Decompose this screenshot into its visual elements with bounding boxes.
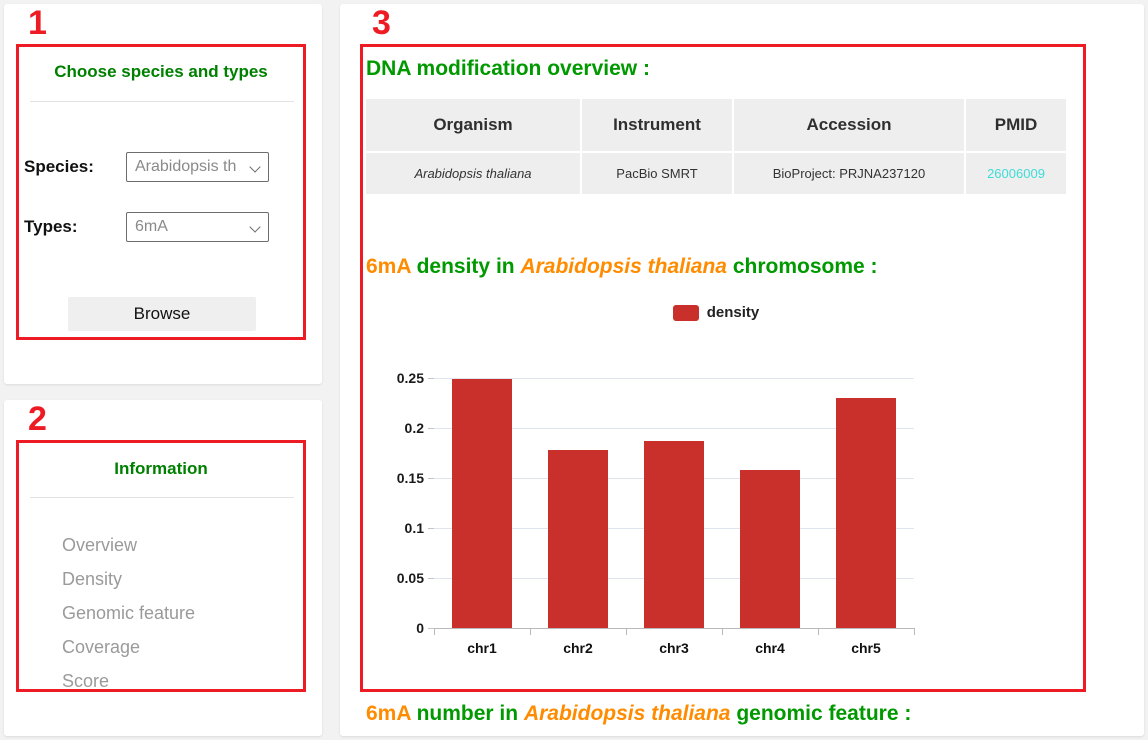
page-root: 1 Choose species and types Species: Arab… [0, 0, 1148, 740]
x-axis-tick-label: chr1 [467, 640, 497, 656]
cell-accession: BioProject: PRJNA237120 [734, 153, 966, 194]
species-panel-divider [30, 101, 294, 102]
chart-bar[interactable] [740, 470, 800, 628]
y-axis-tick-label: 0 [416, 620, 424, 636]
types-select[interactable]: 6mA [126, 212, 269, 242]
chart-legend: density [366, 304, 1066, 321]
x-axis-tick-label: chr4 [755, 640, 785, 656]
chart-plot-area [434, 358, 914, 628]
legend-swatch-density [673, 305, 699, 321]
cell-instrument: PacBio SMRT [582, 153, 734, 194]
x-axis-tick-mark [626, 628, 627, 635]
species-panel-heading: Choose species and types [18, 62, 304, 82]
x-axis-tick-mark [722, 628, 723, 635]
sidebar-item-density[interactable]: Density [62, 562, 302, 596]
chart-bar[interactable] [548, 450, 608, 628]
number-title-modification: 6mA [366, 702, 411, 725]
y-axis-tick-label: 0.25 [397, 370, 424, 386]
cell-organism: Arabidopsis thaliana [366, 153, 582, 194]
sidebar-item-score[interactable]: Score [62, 664, 302, 698]
information-panel-divider [30, 497, 294, 498]
legend-label-density: density [707, 304, 760, 321]
dna-modification-table: Organism Instrument Accession PMID Arabi… [366, 99, 1066, 194]
sidebar-item-genomic-feature[interactable]: Genomic feature [62, 596, 302, 630]
y-axis-tick-mark [428, 578, 434, 579]
chevron-down-icon [250, 221, 262, 233]
table-row: Arabidopsis thaliana PacBio SMRT BioProj… [366, 153, 1066, 194]
overview-section-title: DNA modification overview : [366, 57, 650, 81]
column-header-pmid: PMID [966, 99, 1066, 153]
species-select[interactable]: Arabidopsis th [126, 152, 269, 182]
annotation-number-2: 2 [28, 402, 46, 436]
types-select-value: 6mA [135, 218, 248, 236]
column-header-organism: Organism [366, 99, 582, 153]
x-axis-tick-label: chr2 [563, 640, 593, 656]
y-axis-tick-mark [428, 378, 434, 379]
species-select-value: Arabidopsis th [135, 158, 248, 176]
column-header-accession: Accession [734, 99, 966, 153]
pmid-link[interactable]: 26006009 [987, 166, 1045, 181]
density-section-title: 6mA density in Arabidopsis thaliana chro… [366, 255, 878, 279]
density-title-modification: 6mA [366, 255, 411, 278]
information-list: Overview Density Genomic feature Coverag… [62, 528, 302, 698]
density-title-species: Arabidopsis thaliana [520, 255, 727, 278]
table-header-row: Organism Instrument Accession PMID [366, 99, 1066, 153]
number-title-mid: number in [411, 702, 524, 725]
x-axis-tick-mark [434, 628, 435, 635]
annotation-number-3: 3 [372, 6, 390, 40]
chart-bar[interactable] [452, 379, 512, 628]
number-section-title: 6mA number in Arabidopsis thaliana genom… [366, 702, 911, 726]
x-axis-tick-label: chr5 [851, 640, 881, 656]
x-axis-tick-label: chr3 [659, 640, 689, 656]
chart-bar[interactable] [836, 398, 896, 628]
y-gridline [434, 628, 914, 629]
information-panel-heading: Information [18, 459, 304, 479]
chart-bar[interactable] [644, 441, 704, 628]
species-field-row: Species: Arabidopsis th [24, 152, 269, 182]
y-axis-tick-label: 0.2 [405, 420, 424, 436]
y-axis-tick-mark [428, 528, 434, 529]
x-axis-tick-mark [914, 628, 915, 635]
density-title-tail: chromosome : [727, 255, 878, 278]
sidebar-item-coverage[interactable]: Coverage [62, 630, 302, 664]
cell-pmid: 26006009 [966, 153, 1066, 194]
browse-button[interactable]: Browse [68, 297, 256, 331]
y-axis-tick-label: 0.1 [405, 520, 424, 536]
chevron-down-icon [250, 161, 262, 173]
chart-plot: 00.050.10.150.20.25chr1chr2chr3chr4chr5 [366, 344, 1066, 676]
y-axis-tick-label: 0.05 [397, 570, 424, 586]
x-axis-tick-mark [818, 628, 819, 635]
species-field-label: Species: [24, 157, 124, 177]
annotation-number-1: 1 [28, 6, 46, 40]
x-axis-tick-mark [530, 628, 531, 635]
number-title-tail: genomic feature : [730, 702, 911, 725]
density-chart: density 00.050.10.150.20.25chr1chr2chr3c… [366, 296, 1066, 676]
density-title-mid: density in [411, 255, 521, 278]
types-field-row: Types: 6mA [24, 212, 269, 242]
column-header-instrument: Instrument [582, 99, 734, 153]
y-axis-tick-label: 0.15 [397, 470, 424, 486]
sidebar-item-overview[interactable]: Overview [62, 528, 302, 562]
y-axis-tick-mark [428, 478, 434, 479]
number-title-species: Arabidopsis thaliana [524, 702, 731, 725]
y-axis-tick-mark [428, 428, 434, 429]
types-field-label: Types: [24, 217, 124, 237]
